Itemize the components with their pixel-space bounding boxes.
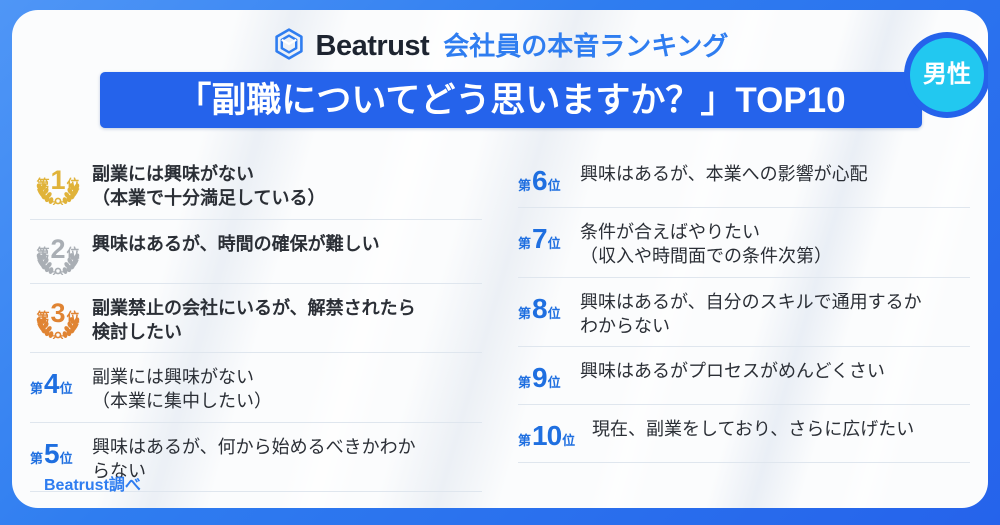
rank-number: 10 <box>532 422 561 450</box>
gender-badge: 男性 <box>904 32 988 118</box>
rank-answer-line: 興味はあるが、時間の確保が難しい <box>92 234 380 254</box>
badge-inner-circle: 男性 <box>910 38 984 112</box>
rank-answer-text: 興味はあるが、自分のスキルで通用するかわからない <box>580 287 970 339</box>
rank-row: 第8位興味はあるが、自分のスキルで通用するかわからない <box>518 278 970 348</box>
rank-badge-5: 第5位 <box>30 440 86 468</box>
rank-row: 第10位現在、副業をしており、さらに広げたい <box>518 405 970 463</box>
brand-name: Beatrust <box>316 32 430 61</box>
rank-badge-9: 第9位 <box>518 364 574 392</box>
rank-number: 8 <box>532 295 547 323</box>
rank-badge-6: 第6位 <box>518 167 574 195</box>
rank-number-group: 第1位 <box>36 167 79 194</box>
rank-row: 第4位副業には興味がない（本業に集中したい） <box>30 353 482 423</box>
rank-suffix: 位 <box>67 247 80 260</box>
source-note: Beatrust調べ <box>44 478 141 494</box>
rank-answer-line: わからない <box>580 314 970 338</box>
rank-suffix: 位 <box>562 434 575 447</box>
rank-answer-line: 副業禁止の会社にいるが、解禁されたら <box>92 298 416 318</box>
rank-number-group: 第3位 <box>36 300 79 327</box>
rank-prefix: 第 <box>518 376 531 389</box>
rank-answer-text: 興味はあるが、何から始めるべきかわからない <box>92 432 482 484</box>
rank-answer-line: 副業には興味がない <box>92 367 254 387</box>
rank-answer-text: 副業には興味がない（本業に集中したい） <box>92 362 482 414</box>
rank-suffix: 位 <box>60 452 73 465</box>
rank-suffix: 位 <box>548 237 561 250</box>
rank-answer-line: らない <box>92 459 482 483</box>
rank-row: 第9位興味はあるがプロセスがめんどくさい <box>518 347 970 405</box>
rank-answer-line: 興味はあるが、本業への影響が心配 <box>580 164 868 184</box>
rank-badge-4: 第4位 <box>30 370 86 398</box>
rank-prefix: 第 <box>518 434 531 447</box>
ranking-column-right: 第6位興味はあるが、本業への影響が心配第7位条件が合えばやりたい（収入や時間面で… <box>500 150 988 492</box>
rank-answer-line: 副業には興味がない <box>92 164 254 184</box>
rank-number: 3 <box>50 300 65 327</box>
header: Beatrust 会社員の本音ランキング <box>12 24 988 68</box>
rank-number-group: 第2位 <box>36 236 79 263</box>
rank-row: 第2位興味はあるが、時間の確保が難しい <box>30 220 482 284</box>
rank-answer-text: 興味はあるが、時間の確保が難しい <box>92 229 482 256</box>
rank-number: 2 <box>50 236 65 263</box>
rank-answer-line: 検討したい <box>92 320 482 344</box>
rank-answer-line: 興味はあるが、何から始めるべきかわか <box>92 437 416 457</box>
rank-badge-1: 第1位 <box>30 161 86 205</box>
rank-prefix: 第 <box>36 178 49 191</box>
rank-answer-line: （収入や時間面での条件次第） <box>580 244 970 268</box>
rank-prefix: 第 <box>30 452 43 465</box>
rank-row: 第6位興味はあるが、本業への影響が心配 <box>518 150 970 208</box>
rank-answer-text: 条件が合えばやりたい（収入や時間面での条件次第） <box>580 217 970 269</box>
rank-suffix: 位 <box>548 307 561 320</box>
rank-answer-text: 副業には興味がない（本業で十分満足している） <box>92 159 482 211</box>
ranking-column-left: 第1位副業には興味がない（本業で十分満足している）第2位興味はあるが、時間の確保… <box>12 150 500 492</box>
rank-badge-7: 第7位 <box>518 225 574 253</box>
rank-badge-8: 第8位 <box>518 295 574 323</box>
rank-number: 1 <box>50 167 65 194</box>
rank-answer-line: 興味はあるが、自分のスキルで通用するか <box>580 292 922 312</box>
rank-answer-line: 条件が合えばやりたい <box>580 222 760 242</box>
rank-number: 9 <box>532 364 547 392</box>
rank-number: 6 <box>532 167 547 195</box>
rank-answer-line: 興味はあるがプロセスがめんどくさい <box>580 361 885 381</box>
rank-answer-text: 副業禁止の会社にいるが、解禁されたら検討したい <box>92 293 482 345</box>
rank-number: 5 <box>44 440 59 468</box>
title-banner: 「副職についてどう思いますか？」TOP10 <box>100 72 922 128</box>
rank-badge-10: 第10位 <box>518 422 586 450</box>
header-tagline: 会社員の本音ランキング <box>443 33 728 59</box>
rank-suffix: 位 <box>60 382 73 395</box>
rank-suffix: 位 <box>67 178 80 191</box>
rank-answer-text: 興味はあるが、本業への影響が心配 <box>580 159 970 186</box>
title-text: 「副職についてどう思いますか？」TOP10 <box>176 83 845 118</box>
gender-badge-label: 男性 <box>923 63 971 87</box>
rank-answer-line: （本業に集中したい） <box>92 389 482 413</box>
rank-row: 第1位副業には興味がない（本業で十分満足している） <box>30 150 482 220</box>
rank-prefix: 第 <box>518 179 531 192</box>
rank-number: 7 <box>532 225 547 253</box>
rank-prefix: 第 <box>36 311 49 324</box>
rank-prefix: 第 <box>518 237 531 250</box>
rank-badge-3: 第3位 <box>30 295 86 339</box>
rank-suffix: 位 <box>67 311 80 324</box>
rank-answer-line: （本業で十分満足している） <box>92 186 482 210</box>
beatrust-hexagon-logo-icon <box>272 27 306 66</box>
rank-answer-text: 興味はあるがプロセスがめんどくさい <box>580 356 970 383</box>
rank-row: 第7位条件が合えばやりたい（収入や時間面での条件次第） <box>518 208 970 278</box>
ranking-columns: 第1位副業には興味がない（本業で十分満足している）第2位興味はあるが、時間の確保… <box>12 150 988 492</box>
rank-suffix: 位 <box>548 179 561 192</box>
rank-answer-line: 現在、副業をしており、さらに広げたい <box>592 419 914 439</box>
rank-number: 4 <box>44 370 59 398</box>
content-card: Beatrust 会社員の本音ランキング 「副職についてどう思いますか？」TOP… <box>12 10 988 508</box>
rank-suffix: 位 <box>548 376 561 389</box>
rank-prefix: 第 <box>518 307 531 320</box>
infographic-screen: Beatrust 会社員の本音ランキング 「副職についてどう思いますか？」TOP… <box>0 0 1000 525</box>
rank-prefix: 第 <box>36 247 49 260</box>
rank-badge-2: 第2位 <box>30 231 86 275</box>
rank-row: 第3位副業禁止の会社にいるが、解禁されたら検討したい <box>30 284 482 354</box>
rank-prefix: 第 <box>30 382 43 395</box>
rank-answer-text: 現在、副業をしており、さらに広げたい <box>592 414 970 441</box>
